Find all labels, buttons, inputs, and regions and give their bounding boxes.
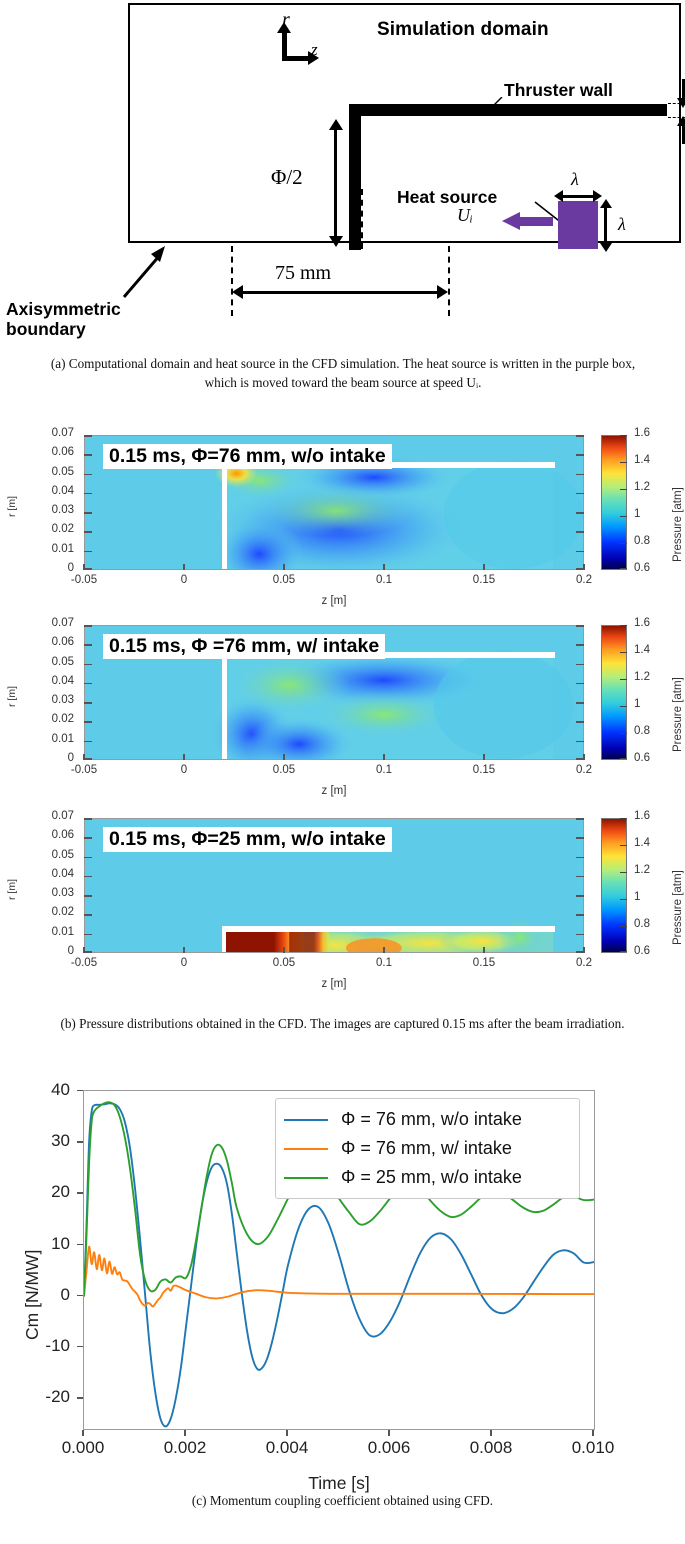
distance-label: 75 mm (275, 262, 331, 285)
axis-gap-overlay-3 (222, 926, 226, 953)
chart-x-tick-label: 0.010 (572, 1438, 615, 1458)
colorbar-tick-mark (620, 568, 627, 569)
x-tick-mark (583, 947, 584, 953)
colorbar-tick-mark (620, 845, 627, 846)
y-tick-mark-right (576, 644, 584, 646)
chart-y-tick-mark (77, 1141, 83, 1142)
colorbar-tick-label: 1.2 (634, 671, 650, 683)
x-tick-mark (483, 947, 484, 953)
colorbar-2 (601, 625, 627, 760)
chart-y-tick-label: 20 (10, 1182, 70, 1202)
y-tick-mark (84, 644, 92, 646)
y-tick-mark-right (576, 512, 584, 514)
colorbar-tick-label: 1.2 (634, 864, 650, 876)
y-tick-mark (84, 837, 92, 839)
colorbar-tick-mark (620, 872, 627, 873)
y-tick-mark (84, 683, 92, 685)
x-tick-label: 0.1 (376, 957, 392, 969)
y-tick-label: 0.05 (0, 466, 82, 478)
thruster-wall-horizontal (349, 104, 667, 116)
colorbar-tick-label: 1.2 (634, 481, 650, 493)
lambda-height-label: λ (618, 214, 626, 235)
phi-half-label: Φ/2 (271, 165, 303, 190)
y-tick-label: 0.04 (0, 485, 82, 497)
distance-guide-left (231, 246, 233, 316)
colorbar-1 (601, 435, 627, 570)
y-tick-label: 0.06 (0, 829, 82, 841)
x-tick-label: 0.2 (576, 957, 592, 969)
x-tick-label: 0.2 (576, 574, 592, 586)
chart-x-tick-mark (592, 1430, 593, 1436)
colorbar-title-2: Pressure [atm] (672, 677, 684, 752)
chart-x-tick-mark (184, 1430, 185, 1436)
y-tick-mark (84, 818, 92, 820)
caption-panel-b: (b) Pressure distributions obtained in t… (10, 1015, 675, 1034)
colorbar-tick-label: 0.6 (634, 752, 650, 764)
velocity-label: Uᵢ (457, 205, 473, 226)
y-tick-mark-right (576, 435, 584, 437)
colorbar-title-1: Pressure [atm] (672, 487, 684, 562)
pressure-plot-3: r [m] (0, 818, 685, 1003)
y-tick-mark-right (576, 934, 584, 936)
y-tick-mark (84, 531, 92, 533)
legend-swatch (284, 1177, 328, 1179)
chart-x-tick-label: 0.008 (470, 1438, 513, 1458)
colorbar-tick-mark (620, 516, 627, 517)
x-tick-label: 0.05 (273, 957, 295, 969)
y-tick-label: 0.07 (0, 617, 82, 629)
caption-panel-c: (c) Momentum coupling coefficient obtain… (10, 1492, 675, 1511)
plot-annotation-1: 0.15 ms, Φ=76 mm, w/o intake (103, 444, 392, 469)
y-tick-label: 0.07 (0, 810, 82, 822)
chart-y-tick-label: 40 (10, 1080, 70, 1100)
colorbar-tick-mark (620, 435, 627, 436)
colorbar-tick-mark (620, 899, 627, 900)
y-tick-label: 0.01 (0, 733, 82, 745)
chart-y-tick-label: 0 (10, 1285, 70, 1305)
thruster-wall-overlay-3 (223, 926, 555, 932)
y-tick-label: 0 (0, 945, 82, 957)
colorbar-tick-label: 1 (634, 891, 640, 903)
lambda-height-arrowhead-down-icon (600, 243, 612, 252)
colorbar-tick-mark (620, 625, 627, 626)
chart-x-tick-label: 0.006 (368, 1438, 411, 1458)
chart-x-tick-label: 0.004 (266, 1438, 309, 1458)
plot-annotation-3: 0.15 ms, Φ=25 mm, w/o intake (103, 827, 392, 852)
colorbar-tick-label: 1.4 (634, 454, 650, 466)
legend-item[interactable]: Φ = 76 mm, w/ intake (284, 1134, 571, 1163)
y-tick-label: 0.04 (0, 868, 82, 880)
axisymmetric-boundary-label: Axisymmetric boundary (6, 299, 121, 339)
y-tick-label: 0.07 (0, 427, 82, 439)
y-tick-mark (84, 493, 92, 495)
y-tick-mark-right (576, 818, 584, 820)
x-tick-label: 0.15 (473, 574, 495, 586)
colorbar-title-3: Pressure [atm] (672, 870, 684, 945)
figure-page: Simulation domain r z Thruster wall 3 mm… (0, 0, 685, 1544)
thruster-wall-label: Thruster wall (504, 80, 613, 101)
y-tick-mark (84, 454, 92, 456)
distance-dimension-line (242, 291, 438, 294)
contour-area-1: 0.15 ms, Φ=76 mm, w/o intake (84, 435, 584, 570)
simulation-domain-diagram: Simulation domain r z Thruster wall 3 mm… (128, 3, 681, 243)
y-tick-label: 0.06 (0, 636, 82, 648)
chart-x-tick-mark (388, 1430, 389, 1436)
distance-arrowhead-right-icon (437, 285, 448, 299)
y-tick-label: 0.01 (0, 543, 82, 555)
pressure-plot-2: r [m] (0, 625, 685, 810)
x-axis-label: z [m] (322, 978, 347, 990)
colorbar-tick-mark (620, 462, 627, 463)
y-tick-mark-right (576, 914, 584, 916)
y-tick-label: 0.01 (0, 926, 82, 938)
y-tick-label: 0.03 (0, 887, 82, 899)
axisymmetric-boundary-label-line2: boundary (6, 319, 121, 339)
y-tick-mark (84, 758, 92, 760)
colorbar-tick-label: 1.6 (634, 427, 650, 439)
distance-arrowhead-left-icon (232, 285, 243, 299)
contour-area-3: 0.15 ms, Φ=25 mm, w/o intake (84, 818, 584, 953)
x-axis-label: z [m] (322, 785, 347, 797)
x-tick-label: 0.05 (273, 574, 295, 586)
thruster-wall-pointer-icon (487, 97, 503, 111)
intake-slot-overlay-2 (222, 658, 227, 760)
y-tick-mark-right (576, 551, 584, 553)
y-tick-mark (84, 914, 92, 916)
chart-y-tick-mark (77, 1192, 83, 1193)
distance-guide-right (448, 246, 450, 316)
y-tick-label: 0 (0, 752, 82, 764)
colorbar-tick-label: 0.6 (634, 945, 650, 957)
x-tick-mark (283, 947, 284, 953)
chart-x-tick-mark (286, 1430, 287, 1436)
legend-item[interactable]: Φ = 25 mm, w/o intake (284, 1163, 571, 1192)
legend-label: Φ = 76 mm, w/ intake (341, 1138, 512, 1159)
phi-arrowhead-down-icon (329, 236, 343, 247)
lambda-width-arrowhead-left-icon (554, 190, 563, 202)
x-tick-label: 0 (181, 764, 187, 776)
colorbar-tick-mark (620, 818, 627, 819)
colorbar-tick-label: 1.4 (634, 644, 650, 656)
colorbar-tick-label: 0.8 (634, 725, 650, 737)
x-tick-mark (183, 564, 184, 570)
x-tick-label: 0.15 (473, 957, 495, 969)
velocity-arrow-body (519, 217, 553, 226)
x-tick-mark (483, 564, 484, 570)
chart-x-axis-label: Time [s] (308, 1473, 370, 1494)
x-tick-label: 0.2 (576, 764, 592, 776)
y-tick-mark (84, 551, 92, 553)
simulation-domain-title: Simulation domain (377, 19, 549, 41)
colorbar-tick-label: 1.6 (634, 617, 650, 629)
chart-y-tick-mark (77, 1397, 83, 1398)
y-tick-label: 0.02 (0, 523, 82, 535)
x-tick-mark (583, 564, 584, 570)
x-tick-mark (383, 564, 384, 570)
legend-item[interactable]: Φ = 76 mm, w/o intake (284, 1105, 571, 1134)
legend-label: Φ = 76 mm, w/o intake (341, 1109, 522, 1130)
y-tick-label: 0 (0, 562, 82, 574)
axisymmetric-boundary-label-line1: Axisymmetric (6, 299, 121, 319)
x-tick-label: -0.05 (71, 957, 97, 969)
colorbar-tick-label: 1 (634, 698, 640, 710)
y-tick-mark-right (576, 837, 584, 839)
y-tick-label: 0.04 (0, 675, 82, 687)
axis-gap-overlay-1 (222, 462, 227, 570)
lambda-height-line (604, 207, 607, 245)
y-tick-mark (84, 435, 92, 437)
y-tick-mark (84, 934, 92, 936)
phi-half-dimension-line (334, 128, 337, 238)
chart-y-tick-mark (77, 1295, 83, 1296)
y-tick-label: 0.05 (0, 849, 82, 861)
wall-thickness-arrowhead-down-icon (677, 98, 685, 108)
lambda-width-line (562, 195, 594, 198)
x-axis-label: z [m] (322, 595, 347, 607)
axis-arrowhead-up-icon (277, 22, 291, 33)
x-tick-mark (283, 564, 284, 570)
contour-area-2: 0.15 ms, Φ =76 mm, w/ intake (84, 625, 584, 760)
y-tick-mark-right (576, 493, 584, 495)
x-tick-mark (283, 754, 284, 760)
legend-label: Φ = 25 mm, w/o intake (341, 1167, 522, 1188)
chart-y-tick-label: 30 (10, 1131, 70, 1151)
axisymmetric-boundary-pointer-icon (122, 245, 166, 299)
thruster-wall-vertical (349, 104, 361, 250)
colorbar-tick-label: 0.8 (634, 918, 650, 930)
colorbar-3 (601, 818, 627, 953)
y-tick-mark-right (576, 531, 584, 533)
legend-swatch (284, 1119, 328, 1121)
plot-annotation-2: 0.15 ms, Φ =76 mm, w/ intake (103, 634, 385, 659)
colorbar-tick-label: 0.8 (634, 535, 650, 547)
y-tick-mark-right (576, 625, 584, 627)
x-tick-mark (83, 947, 84, 953)
colorbar-tick-mark (620, 679, 627, 680)
x-tick-label: 0.1 (376, 764, 392, 776)
lambda-width-label: λ (571, 169, 579, 190)
y-tick-mark-right (576, 895, 584, 897)
pressure-plot-1: r [m] (0, 435, 685, 620)
phi-arrowhead-up-icon (329, 119, 343, 130)
velocity-arrowhead-left-icon (502, 212, 520, 230)
y-tick-mark-right (576, 741, 584, 743)
y-tick-mark-right (576, 683, 584, 685)
x-tick-label: -0.05 (71, 574, 97, 586)
y-tick-mark (84, 474, 92, 476)
axisymmetric-boundary-dashes (361, 189, 363, 249)
chart-y-tick-label: 10 (10, 1234, 70, 1254)
y-tick-mark-right (576, 702, 584, 704)
colorbar-tick-mark (620, 543, 627, 544)
y-tick-mark-right (576, 474, 584, 476)
chart-x-tick-mark (82, 1430, 83, 1436)
x-tick-label: 0.05 (273, 764, 295, 776)
y-tick-mark-right (576, 454, 584, 456)
x-tick-mark (183, 754, 184, 760)
chart-y-tick-mark (77, 1346, 83, 1347)
lambda-height-arrowhead-up-icon (600, 199, 612, 208)
y-tick-mark-right (576, 876, 584, 878)
y-tick-mark (84, 741, 92, 743)
y-tick-label: 0.03 (0, 504, 82, 516)
x-tick-label: 0 (181, 574, 187, 586)
heat-source-label: Heat source (397, 187, 497, 208)
y-tick-label: 0.03 (0, 694, 82, 706)
y-tick-mark-right (576, 857, 584, 859)
colorbar-tick-mark (620, 489, 627, 490)
chart-y-tick-mark (77, 1244, 83, 1245)
y-tick-mark-right (576, 664, 584, 666)
chart-y-tick-label: -20 (10, 1387, 70, 1407)
chart-x-tick-mark (490, 1430, 491, 1436)
x-tick-label: 0.15 (473, 764, 495, 776)
colorbar-tick-label: 1.4 (634, 837, 650, 849)
chart-x-tick-label: 0.002 (164, 1438, 207, 1458)
y-tick-mark (84, 895, 92, 897)
momentum-coupling-chart: Φ = 76 mm, w/o intakeΦ = 76 mm, w/ intak… (0, 1060, 685, 1480)
x-tick-label: -0.05 (71, 764, 97, 776)
colorbar-tick-mark (620, 706, 627, 707)
colorbar-tick-label: 1 (634, 508, 640, 520)
y-tick-label: 0.02 (0, 713, 82, 725)
heat-source-box (558, 201, 598, 249)
y-tick-mark (84, 857, 92, 859)
chart-legend: Φ = 76 mm, w/o intakeΦ = 76 mm, w/ intak… (275, 1098, 580, 1199)
y-tick-mark (84, 951, 92, 953)
x-tick-mark (383, 947, 384, 953)
caption-panel-a: (a) Computational domain and heat source… (43, 355, 643, 392)
legend-swatch (284, 1148, 328, 1150)
y-tick-mark (84, 721, 92, 723)
x-tick-mark (83, 754, 84, 760)
colorbar-tick-label: 1.6 (634, 810, 650, 822)
y-tick-mark-right (576, 721, 584, 723)
y-tick-mark (84, 702, 92, 704)
colorbar-tick-label: 0.6 (634, 562, 650, 574)
chart-x-tick-label: 0.000 (62, 1438, 105, 1458)
colorbar-tick-mark (620, 758, 627, 759)
y-tick-label: 0.05 (0, 656, 82, 668)
x-tick-label: 0 (181, 957, 187, 969)
x-tick-mark (583, 754, 584, 760)
x-tick-mark (383, 754, 384, 760)
y-tick-mark (84, 568, 92, 570)
colorbar-tick-mark (620, 951, 627, 952)
y-tick-mark (84, 664, 92, 666)
chart-y-tick-mark (77, 1090, 83, 1091)
x-tick-mark (183, 947, 184, 953)
y-tick-label: 0.06 (0, 446, 82, 458)
colorbar-tick-mark (620, 926, 627, 927)
y-tick-label: 0.02 (0, 906, 82, 918)
chart-y-tick-label: -10 (10, 1336, 70, 1356)
x-tick-mark (483, 754, 484, 760)
colorbar-tick-mark (620, 652, 627, 653)
x-tick-mark (83, 564, 84, 570)
y-tick-mark (84, 512, 92, 514)
y-tick-mark (84, 876, 92, 878)
colorbar-tick-mark (620, 733, 627, 734)
x-tick-label: 0.1 (376, 574, 392, 586)
wall-thickness-arrowhead-up-icon (677, 116, 685, 126)
axis-arrowhead-right-icon (308, 51, 319, 65)
y-tick-mark (84, 625, 92, 627)
